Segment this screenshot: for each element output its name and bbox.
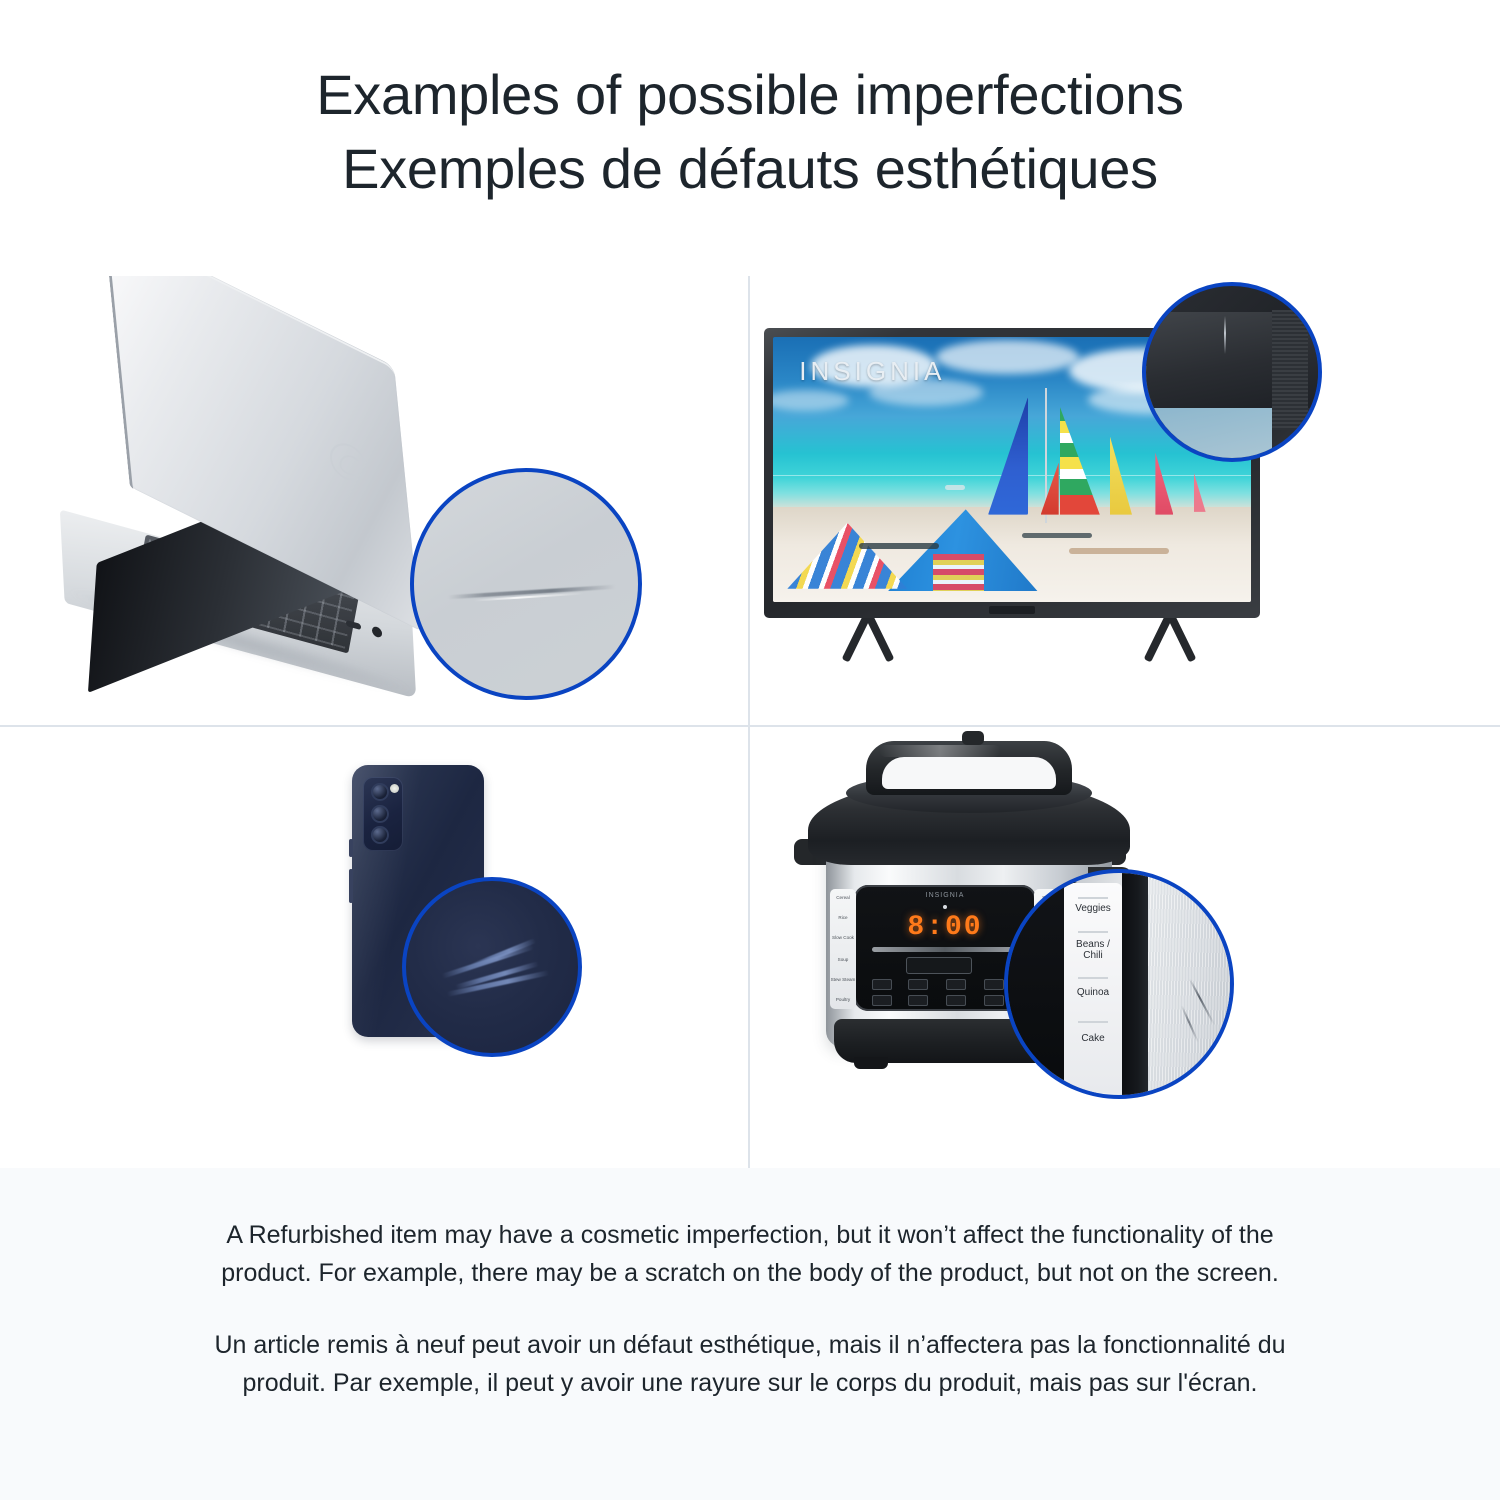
cooker-led-display: 8:00 (907, 912, 982, 943)
magnifier-circle-tv (1142, 282, 1322, 462)
button-separator (1078, 1021, 1108, 1023)
footer-description: A Refurbished item may have a cosmetic i… (0, 1168, 1500, 1500)
laptop-illustration (0, 276, 748, 725)
infographic-page: Examples of possible imperfections Exemp… (0, 0, 1500, 1500)
boat-hull (859, 543, 939, 549)
cooker-mode-button[interactable] (906, 957, 972, 974)
magnified-button-column: Veggies Beans / Chili Quinoa Cake (1064, 883, 1122, 1093)
sail-striped (1060, 407, 1100, 515)
cooker-slider-bar[interactable] (872, 947, 1018, 952)
phone-volume-button (349, 869, 353, 903)
magnified-bezel-edge (1272, 310, 1308, 430)
cooker-key-rice[interactable] (984, 995, 1004, 1006)
quadrant-tv: INSIGNIA (750, 276, 1500, 725)
scratch-mark (1181, 1005, 1199, 1042)
cooker-key-manual[interactable] (872, 979, 892, 990)
cooker-key-warm[interactable] (872, 995, 892, 1006)
sail-blue (988, 397, 1028, 515)
phone-camera-module (363, 777, 403, 851)
phone-side-button (349, 839, 353, 857)
page-title: Examples of possible imperfections Exemp… (0, 58, 1500, 206)
cooker-foot (854, 1057, 888, 1069)
magnified-panel-edge (1122, 873, 1148, 1095)
quadrant-laptop (0, 276, 748, 725)
cooker-key-delay[interactable] (984, 979, 1004, 990)
footer-paragraph-english: A Refurbished item may have a cosmetic i… (180, 1216, 1320, 1292)
quadrant-phone (0, 727, 748, 1168)
cooker-key-grid[interactable] (868, 979, 1022, 1007)
magnifier-circle-laptop (410, 468, 642, 700)
cooker-steam-valve (962, 731, 984, 745)
footer-paragraph-french: Un article remis à neuf peut avoir un dé… (180, 1326, 1320, 1402)
title-line-french: Exemples de défauts esthétiques (0, 132, 1500, 206)
boat-hull (1069, 548, 1169, 554)
button-separator (1078, 977, 1108, 979)
cooker-brand-logo: INSIGNIA (926, 892, 965, 899)
tv-illustration: INSIGNIA (750, 276, 1500, 725)
magnified-button-veggies: Veggies (1068, 903, 1118, 914)
examples-grid: INSIGNIA (0, 276, 1500, 1168)
camera-flash-icon (390, 784, 399, 793)
cooker-button-soup[interactable]: Soup (830, 957, 856, 962)
sail-pink-small (1194, 472, 1206, 512)
scratch-mark (1224, 316, 1226, 354)
cooker-key-less[interactable] (908, 979, 928, 990)
cooker-button-cereal[interactable]: Cereal (830, 895, 856, 900)
cooker-key-more[interactable] (946, 979, 966, 990)
cloud (936, 340, 1079, 374)
cooker-key-start[interactable] (908, 995, 928, 1006)
cooker-illustration: INSIGNIA 8:00 Cereal Rice Slow Cook Soup… (750, 727, 1500, 1168)
tv-leg-right (1140, 614, 1216, 662)
quadrant-pressure-cooker: INSIGNIA 8:00 Cereal Rice Slow Cook Soup… (750, 727, 1500, 1168)
cooker-key-slow[interactable] (946, 995, 966, 1006)
magnified-button-cake: Cake (1068, 1033, 1118, 1044)
tv-leg-left (838, 614, 914, 662)
scratch-mark (442, 944, 535, 978)
phone-illustration (0, 727, 748, 1168)
magnified-button-beans: Beans / Chili (1068, 939, 1118, 961)
camera-lens-icon (371, 783, 389, 801)
boat-hull (1022, 533, 1092, 538)
camera-lens-icon (371, 826, 389, 844)
sail-pink (1155, 453, 1173, 515)
scratch-mark (1189, 979, 1215, 1026)
tv-bottom-badge (989, 606, 1035, 614)
magnified-steel-surface (1148, 873, 1234, 1095)
tv-brand-logo: INSIGNIA (799, 356, 945, 387)
magnifier-circle-cooker: Veggies Beans / Chili Quinoa Cake (1004, 869, 1234, 1099)
cooker-button-slowcook[interactable]: Slow Cook (830, 935, 856, 940)
cooker-handle-sheen (880, 745, 1000, 757)
magnified-panel (1008, 873, 1070, 1095)
cooker-left-button-column[interactable]: Cereal Rice Slow Cook Soup Stew Steam Po… (830, 889, 856, 1009)
camera-lens-icon (371, 805, 389, 823)
cloud (773, 390, 849, 411)
cooker-indicator-light (943, 905, 947, 909)
button-separator (1078, 931, 1108, 933)
distant-boat (945, 485, 965, 490)
cooker-button-stew[interactable]: Stew Steam (830, 977, 856, 982)
magnifier-circle-phone (402, 877, 582, 1057)
button-separator (1078, 897, 1108, 899)
cooker-button-poultry[interactable]: Poultry (830, 997, 856, 1002)
magnified-button-quinoa: Quinoa (1068, 987, 1118, 998)
title-line-english: Examples of possible imperfections (0, 58, 1500, 132)
cooker-button-rice[interactable]: Rice (830, 915, 856, 920)
